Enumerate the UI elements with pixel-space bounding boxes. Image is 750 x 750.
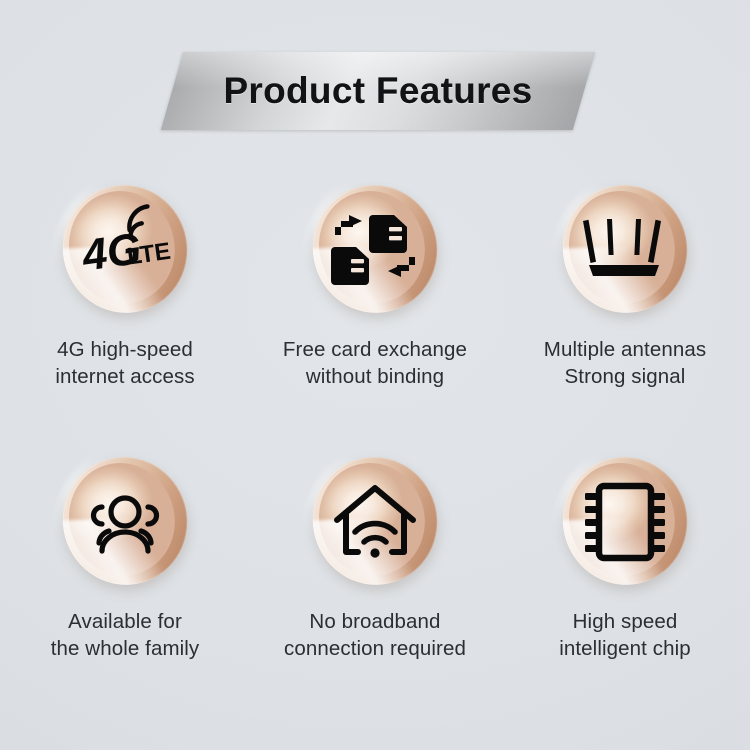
feature-caption: Available for the whole family xyxy=(51,608,200,663)
feature-item-intelligent-chip: High speed intelligent chip xyxy=(500,440,750,712)
svg-text:LTE: LTE xyxy=(125,238,172,271)
icon-disc xyxy=(550,174,700,324)
icon-disc xyxy=(300,174,450,324)
caption-line-2: the whole family xyxy=(51,635,200,662)
caption-line-1: 4G high-speed xyxy=(55,336,194,363)
caption-line-1: High speed xyxy=(559,608,691,635)
icon-disc xyxy=(300,446,450,596)
feature-caption: High speed intelligent chip xyxy=(559,608,691,663)
icon-disc xyxy=(50,446,200,596)
disc-body xyxy=(298,442,452,599)
caption-line-2: internet access xyxy=(55,363,194,390)
feature-item-no-broadband: No broadband connection required xyxy=(250,440,500,712)
page-title: Product Features xyxy=(172,52,584,130)
features-grid: 4G LTE 4G high-speed internet access xyxy=(0,168,750,712)
disc-body xyxy=(48,442,202,599)
disc-body xyxy=(548,442,702,599)
caption-line-2: without binding xyxy=(283,363,467,390)
caption-line-1: Available for xyxy=(51,608,200,635)
feature-item-whole-family: Available for the whole family xyxy=(0,440,250,712)
title-banner: Product Features xyxy=(0,52,750,138)
caption-line-2: connection required xyxy=(284,635,466,662)
icon-disc xyxy=(550,446,700,596)
feature-caption: 4G high-speed internet access xyxy=(55,336,194,391)
feature-caption: Free card exchange without binding xyxy=(283,336,467,391)
microchip-icon xyxy=(577,473,673,569)
caption-line-1: No broadband xyxy=(284,608,466,635)
router-antennas-icon xyxy=(577,201,673,297)
infographic-canvas: Product Features xyxy=(0,0,750,750)
disc-body xyxy=(298,170,452,327)
caption-line-1: Free card exchange xyxy=(283,336,467,363)
disc-body xyxy=(548,170,702,327)
family-group-icon xyxy=(77,473,173,569)
sim-card-exchange-icon xyxy=(327,201,423,297)
home-wifi-icon xyxy=(327,473,423,569)
feature-item-4g-lte: 4G LTE 4G high-speed internet access xyxy=(0,168,250,440)
disc-body: 4G LTE xyxy=(48,170,202,327)
caption-line-1: Multiple antennas xyxy=(544,336,706,363)
feature-caption: Multiple antennas Strong signal xyxy=(544,336,706,391)
caption-line-2: intelligent chip xyxy=(559,635,691,662)
4g-lte-signal-icon: 4G LTE xyxy=(77,201,173,297)
feature-item-antennas: Multiple antennas Strong signal xyxy=(500,168,750,440)
feature-caption: No broadband connection required xyxy=(284,608,466,663)
caption-line-2: Strong signal xyxy=(544,363,706,390)
feature-item-card-exchange: Free card exchange without binding xyxy=(250,168,500,440)
icon-disc: 4G LTE xyxy=(50,174,200,324)
